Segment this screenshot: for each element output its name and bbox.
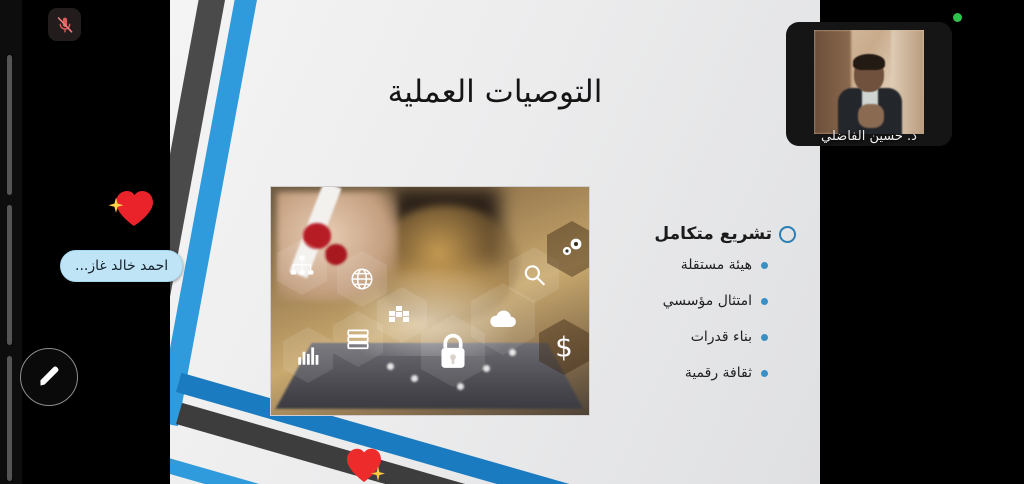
list-item-label: امتثال مؤسسي [663, 293, 752, 309]
list-item-label: بناء قدرات [691, 329, 752, 345]
list-item: ثقافة رقمية [590, 365, 802, 381]
status-indicator-dot [953, 13, 962, 22]
meeting-screen-share-view: التوصيات العملية [0, 0, 1024, 484]
microphone-muted-icon [55, 15, 75, 35]
list-item-label: ثقافة رقمية [685, 365, 752, 381]
self-view-tile[interactable]: د. حسين الفاضلي [786, 22, 952, 146]
reaction-sparkling-heart [340, 440, 392, 484]
circle-bullet-icon [779, 226, 796, 243]
list-item: بناء قدرات [590, 329, 802, 345]
pencil-icon [36, 364, 62, 390]
scroll-rail-segment[interactable] [7, 356, 12, 481]
participant-video [814, 30, 924, 134]
bullet-heading-label: تشريع متكامل [654, 224, 772, 244]
slide-title: التوصيات العملية [170, 74, 820, 110]
participant-name-bubble-label: احمد خالد غاز... [75, 258, 168, 274]
top-bar [820, 0, 1024, 9]
dot-bullet-icon [761, 370, 768, 377]
list-item: امتثال مؤسسي [590, 293, 802, 309]
dot-bullet-icon [761, 334, 768, 341]
presentation-slide: التوصيات العملية [170, 0, 820, 484]
scroll-rail-segment[interactable] [7, 205, 12, 345]
dot-bullet-icon [761, 298, 768, 305]
slide-image: $ [270, 186, 590, 416]
mute-button[interactable] [48, 8, 81, 41]
reaction-sparkling-heart [104, 182, 156, 228]
annotate-button[interactable] [20, 348, 78, 406]
list-item: هيئة مستقلة [590, 257, 802, 273]
svg-text:$: $ [555, 331, 573, 363]
scroll-rail-segment[interactable] [7, 55, 12, 195]
scroll-rail[interactable] [0, 0, 22, 484]
bullet-heading-row: تشريع متكامل [590, 224, 802, 244]
participant-name-label: د. حسين الفاضلي [786, 129, 952, 144]
list-item-label: هيئة مستقلة [681, 257, 752, 273]
dot-bullet-icon [761, 262, 768, 269]
participant-name-bubble[interactable]: احمد خالد غاز... [60, 250, 183, 282]
slide-bullet-list: تشريع متكامل هيئة مستقلة امتثال مؤسسي بن… [590, 224, 802, 401]
